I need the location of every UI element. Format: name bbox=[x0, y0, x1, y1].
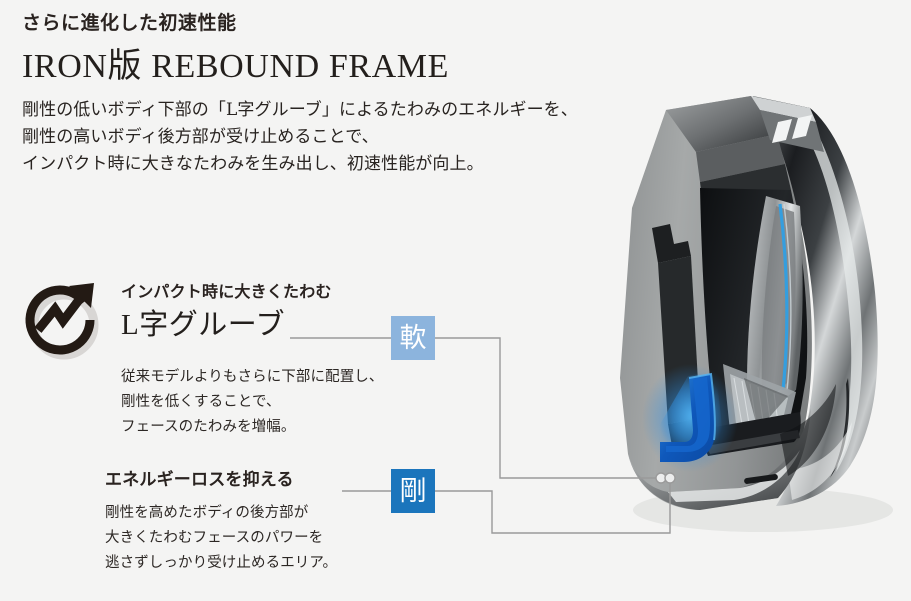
infographic-root: さらに進化した初速性能 IRON版 REBOUND FRAME 剛性の低いボディ… bbox=[0, 0, 911, 601]
callout-l-groove-body: 従来モデルよりもさらに下部に配置し、 剛性を低くすることで、 フェースのたわみを… bbox=[121, 365, 441, 440]
eyebrow-text: さらに進化した初速性能 bbox=[22, 12, 702, 35]
body-line: フェースのたわみを増幅。 bbox=[121, 415, 441, 440]
callout-energy-loss-body: 剛性を高めたボディの後方部が 大きくたわむフェースのパワーを 逃さずしっかり受け… bbox=[105, 501, 435, 576]
callout-l-groove-text: インパクト時に大きくたわむ L字グルーブ bbox=[121, 282, 421, 343]
callout-energy-loss: エネルギーロスを抑える 剛性を高めたボディの後方部が 大きくたわむフェースのパワ… bbox=[105, 470, 435, 576]
body-line: 逃さずしっかり受け止めるエリア。 bbox=[105, 551, 435, 576]
body-line: 大きくたわむフェースのパワーを bbox=[105, 526, 435, 551]
body-line: 剛性を高めたボディの後方部が bbox=[105, 501, 435, 526]
body-line: 剛性を低くすることで、 bbox=[121, 390, 441, 415]
golf-iron-club-head-illustration bbox=[548, 78, 911, 601]
trend-arrow-circle-icon bbox=[22, 276, 108, 362]
body-line: 従来モデルよりもさらに下部に配置し、 bbox=[121, 365, 441, 390]
callout-l-groove-kicker: インパクト時に大きくたわむ bbox=[121, 282, 421, 301]
callout-energy-loss-kicker: エネルギーロスを抑える bbox=[105, 470, 435, 490]
callout-l-groove-headline: L字グルーブ bbox=[121, 308, 421, 343]
